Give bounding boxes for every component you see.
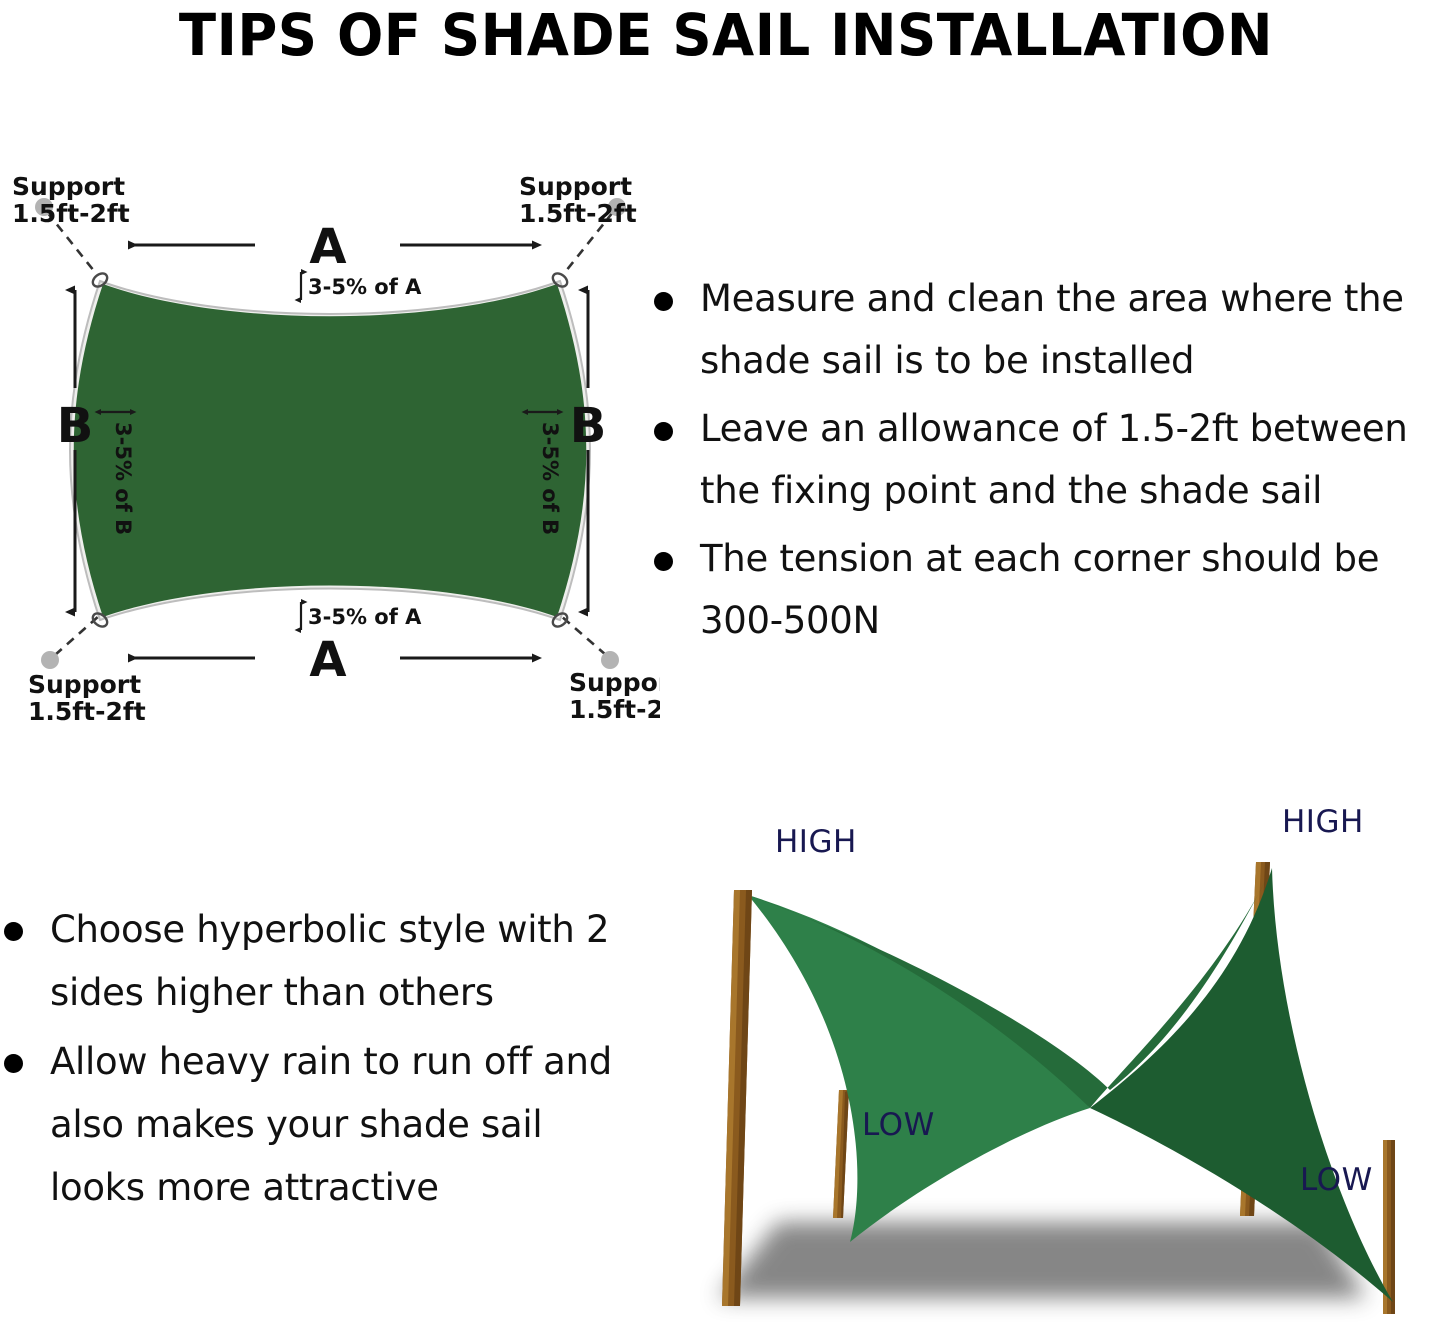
- support-label-top-right-line2: 1.5ft-2ft: [519, 199, 637, 228]
- dimension-label-a-bottom: A: [309, 632, 346, 688]
- curve-label-a-bottom: 3-5% of A: [308, 605, 422, 629]
- support-label-bottom-left-line2: 1.5ft-2ft: [28, 697, 146, 726]
- list-item-text: Leave an allowance of 1.5-2ft between th…: [700, 407, 1408, 512]
- curve-label-a-top: 3-5% of A: [308, 275, 422, 299]
- label-low-left: LOW: [862, 1107, 935, 1143]
- bullet-dot-icon: [654, 422, 673, 441]
- support-label-bottom-right-line2: 1.5ft-2ft: [569, 695, 660, 724]
- dimension-label-b-right: B: [570, 398, 607, 454]
- rectangular-sail-diagram: A 3-5% of A A 3-5% of A B 3-5% of B: [0, 150, 660, 750]
- anchor-dot-bottom-left: [41, 651, 59, 669]
- list-item: The tension at each corner should be 300…: [648, 528, 1452, 652]
- list-item-text: Measure and clean the area where the sha…: [700, 277, 1404, 382]
- bullet-dot-icon: [654, 552, 673, 571]
- post-low-left: [833, 1090, 849, 1218]
- installation-tips-list-left: Choose hyperbolic style with 2 sides hig…: [0, 898, 620, 1225]
- label-low-right: LOW: [1300, 1162, 1373, 1198]
- page-title: TIPS OF SHADE SAIL INSTALLATION: [179, 6, 1273, 64]
- list-item: Allow heavy rain to run off and also mak…: [0, 1030, 620, 1219]
- shade-sail-body: [74, 284, 587, 617]
- curve-label-b-left: 3-5% of B: [111, 422, 135, 535]
- post-high-left: [722, 890, 752, 1306]
- tether-bottom-right: [561, 616, 606, 655]
- ground-shadow: [718, 1222, 1366, 1298]
- list-item: Leave an allowance of 1.5-2ft between th…: [648, 398, 1452, 522]
- bullet-dot-icon: [654, 292, 673, 311]
- anchor-dot-bottom-right: [601, 651, 619, 669]
- list-item: Choose hyperbolic style with 2 sides hig…: [0, 898, 620, 1024]
- bullet-dot-icon: [4, 1054, 23, 1073]
- support-label-top-right-line1: Support: [519, 172, 632, 201]
- title-bar: TIPS OF SHADE SAIL INSTALLATION: [0, 0, 1452, 70]
- curve-label-b-right: 3-5% of B: [538, 422, 562, 535]
- hyperbolic-sail-diagram: HIGH HIGH LOW LOW: [660, 790, 1452, 1325]
- label-high-left: HIGH: [775, 824, 857, 860]
- support-label-top-left-line1: Support: [12, 172, 125, 201]
- installation-tips-list-right: Measure and clean the area where the sha…: [648, 268, 1452, 658]
- support-label-bottom-right-line1: Support: [569, 668, 660, 697]
- label-high-right: HIGH: [1282, 804, 1364, 840]
- support-label-bottom-left-line1: Support: [28, 670, 141, 699]
- bullet-dot-icon: [4, 922, 23, 941]
- support-label-top-left-line2: 1.5ft-2ft: [12, 199, 130, 228]
- list-item: Measure and clean the area where the sha…: [648, 268, 1452, 392]
- dimension-label-b-left: B: [57, 398, 94, 454]
- list-item-text: The tension at each corner should be 300…: [700, 537, 1379, 642]
- list-item-text: Allow heavy rain to run off and also mak…: [50, 1040, 612, 1209]
- sail-surface-left: [748, 895, 1090, 1242]
- list-item-text: Choose hyperbolic style with 2 sides hig…: [50, 908, 609, 1014]
- dimension-label-a-top: A: [309, 219, 346, 275]
